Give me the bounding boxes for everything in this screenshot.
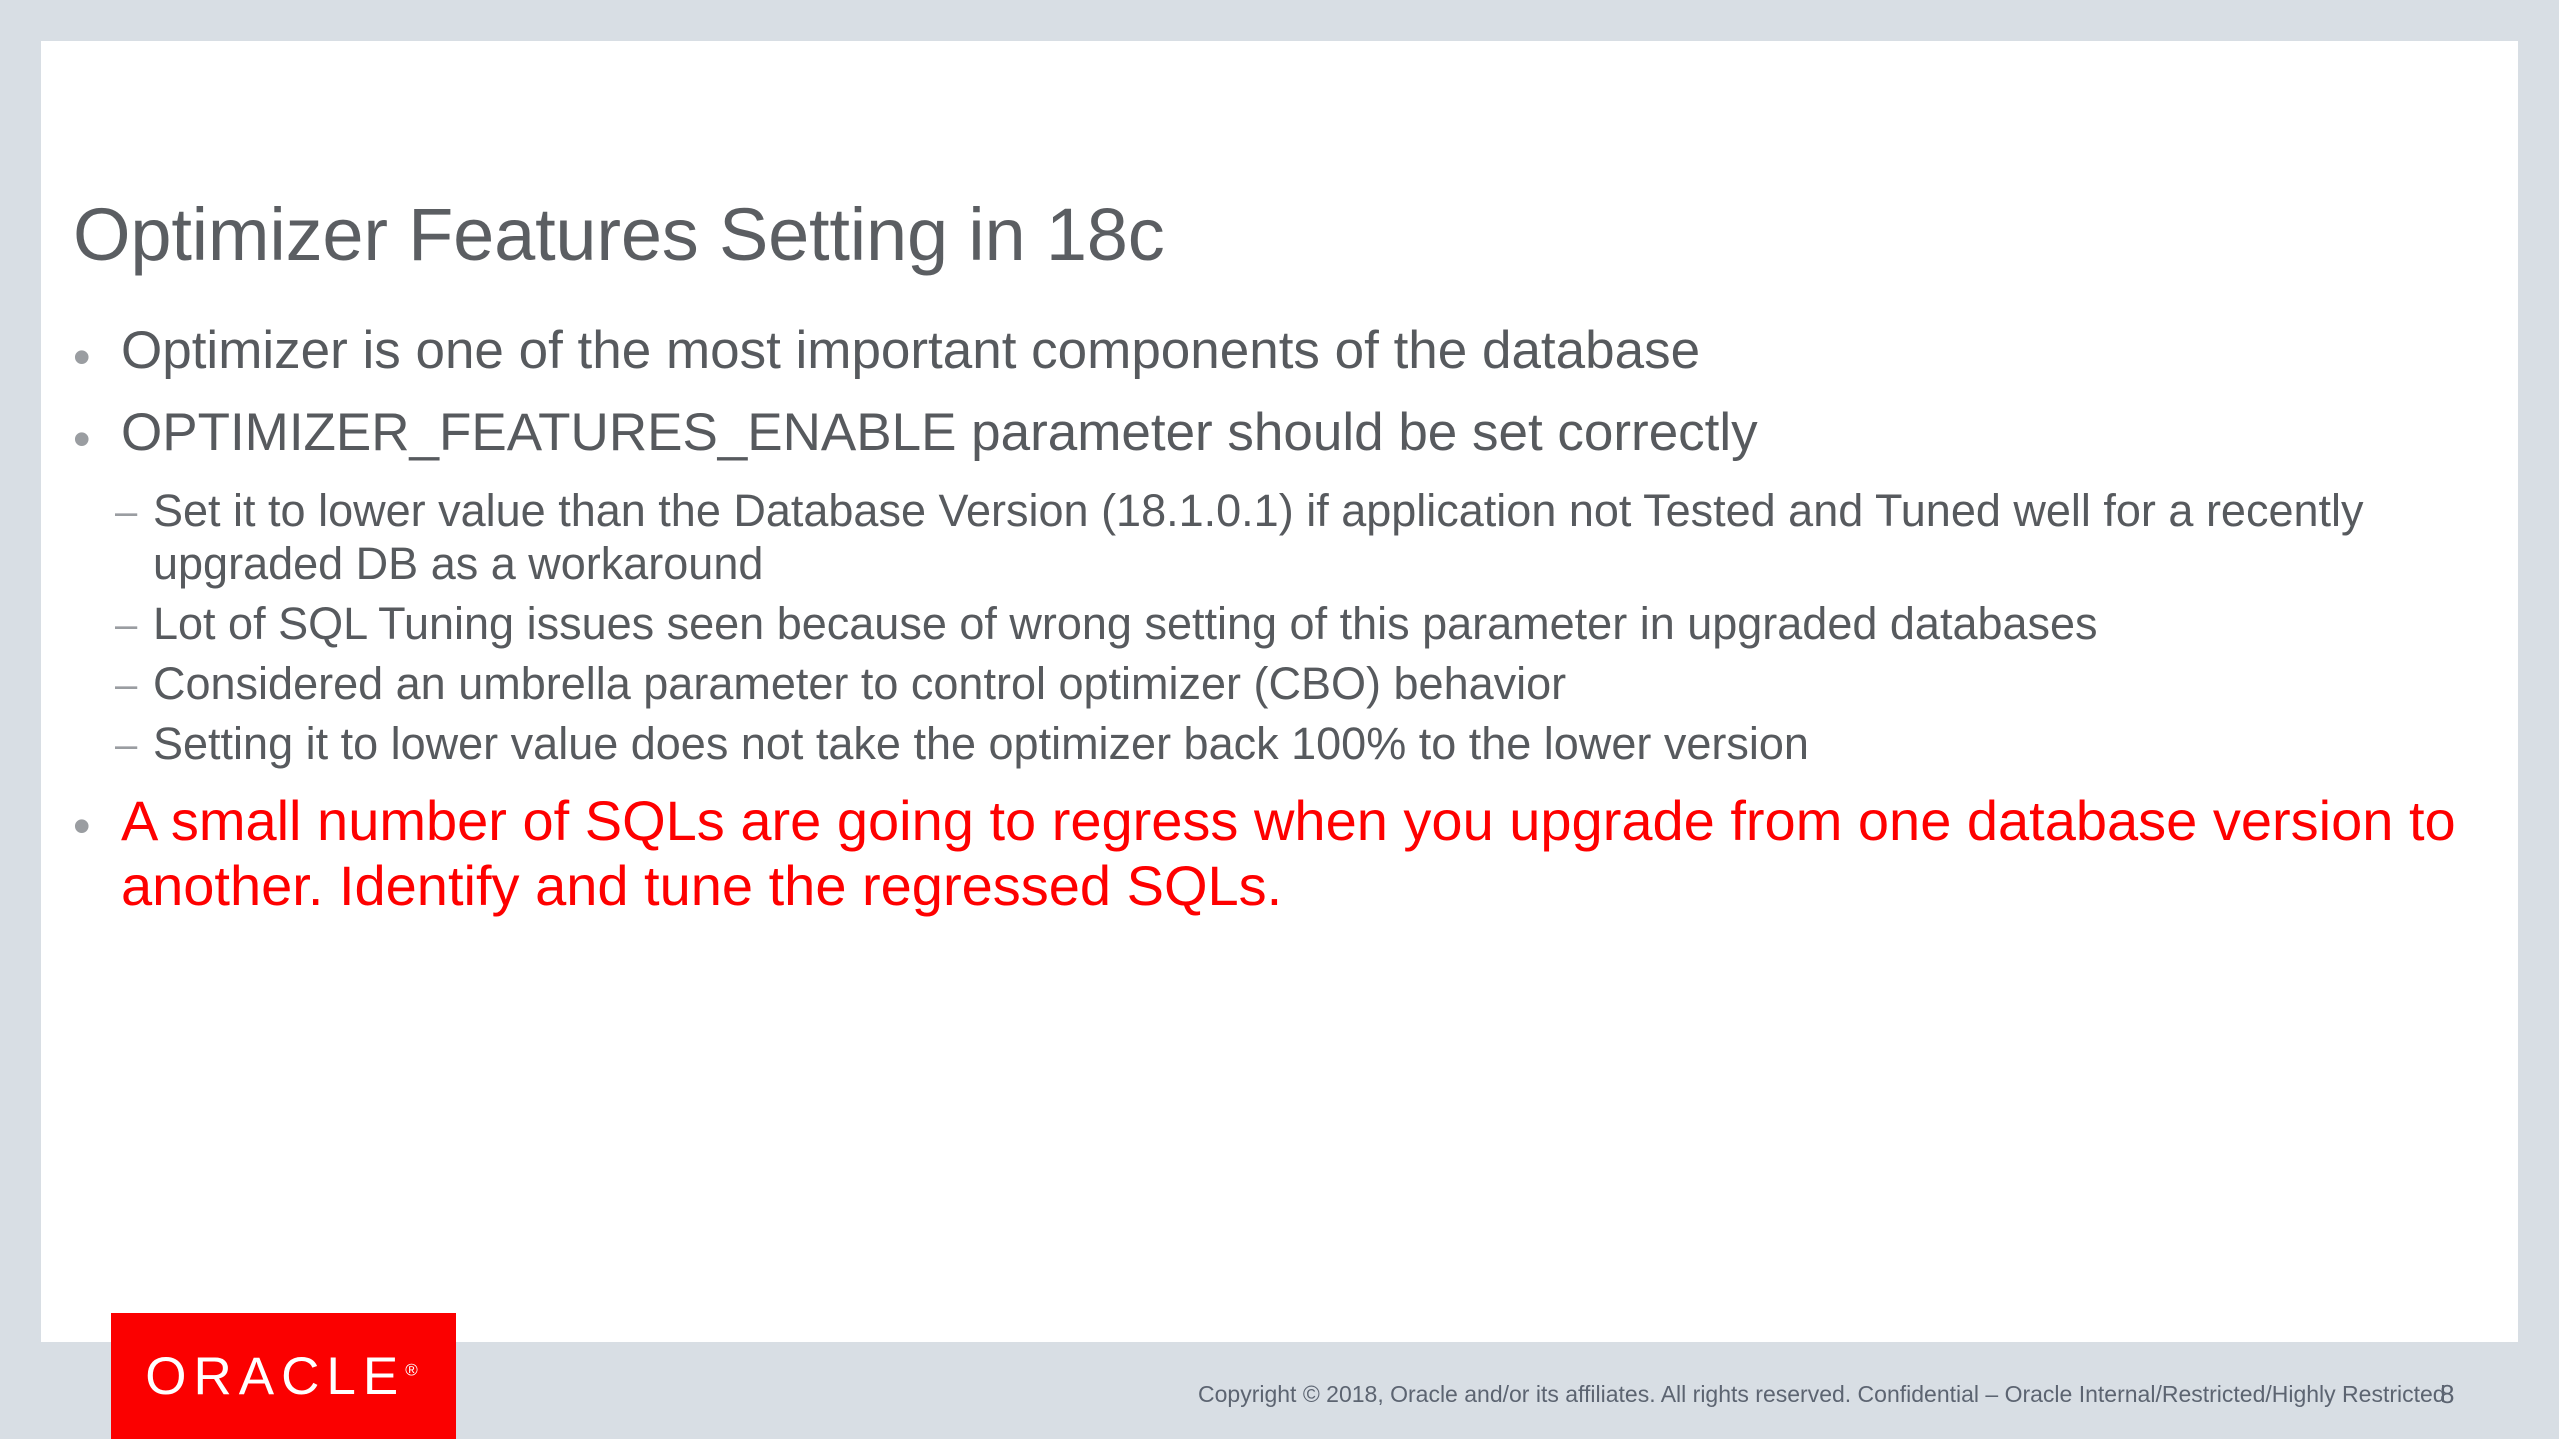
sub-bullet-item-3: – Considered an umbrella parameter to co… — [73, 657, 2473, 710]
slide-canvas: Optimizer Features Setting in 18c • Opti… — [0, 0, 2559, 1439]
bullet-item-2: • OPTIMIZER_FEATURES_ENABLE parameter sh… — [73, 402, 2473, 464]
sub-bullet-item-4: – Setting it to lower value does not tak… — [73, 717, 2473, 770]
bullet-item-1: • Optimizer is one of the most important… — [73, 320, 2473, 382]
dash-marker-icon: – — [115, 484, 153, 532]
bullet-item-3-emphasis: • A small number of SQLs are going to re… — [73, 789, 2473, 919]
bullet-text-1: Optimizer is one of the most important c… — [121, 320, 2473, 381]
bullet-marker-icon: • — [73, 402, 121, 464]
dash-marker-icon: – — [115, 597, 153, 645]
spacer — [73, 777, 2473, 789]
page-number: 8 — [2440, 1379, 2454, 1410]
sub-bullet-text-1: Set it to lower value than the Database … — [153, 484, 2443, 590]
bullet-marker-icon: • — [73, 320, 121, 382]
registered-trademark-icon: ® — [405, 1360, 418, 1379]
dash-marker-icon: – — [115, 717, 153, 765]
dash-marker-icon: – — [115, 657, 153, 705]
oracle-logo: ORACLE® — [111, 1313, 456, 1439]
sub-bullet-list: – Set it to lower value than the Databas… — [73, 484, 2473, 770]
sub-bullet-text-2: Lot of SQL Tuning issues seen because of… — [153, 597, 2443, 650]
sub-bullet-item-1: – Set it to lower value than the Databas… — [73, 484, 2473, 590]
bullet-marker-icon: • — [73, 789, 121, 851]
bullet-text-2: OPTIMIZER_FEATURES_ENABLE parameter shou… — [121, 402, 2473, 463]
sub-bullet-text-4: Setting it to lower value does not take … — [153, 717, 2443, 770]
slide-bullet-list: • Optimizer is one of the most important… — [73, 320, 2473, 939]
oracle-wordmark: ORACLE® — [145, 1346, 421, 1407]
sub-bullet-item-2: – Lot of SQL Tuning issues seen because … — [73, 597, 2473, 650]
oracle-logo-text: ORACLE — [145, 1347, 405, 1406]
bullet-text-3: A small number of SQLs are going to regr… — [121, 789, 2473, 919]
footer-copyright-text: Copyright © 2018, Oracle and/or its affi… — [1198, 1381, 2446, 1408]
sub-bullet-text-3: Considered an umbrella parameter to cont… — [153, 657, 2443, 710]
page-title: Optimizer Features Setting in 18c — [73, 195, 2373, 275]
